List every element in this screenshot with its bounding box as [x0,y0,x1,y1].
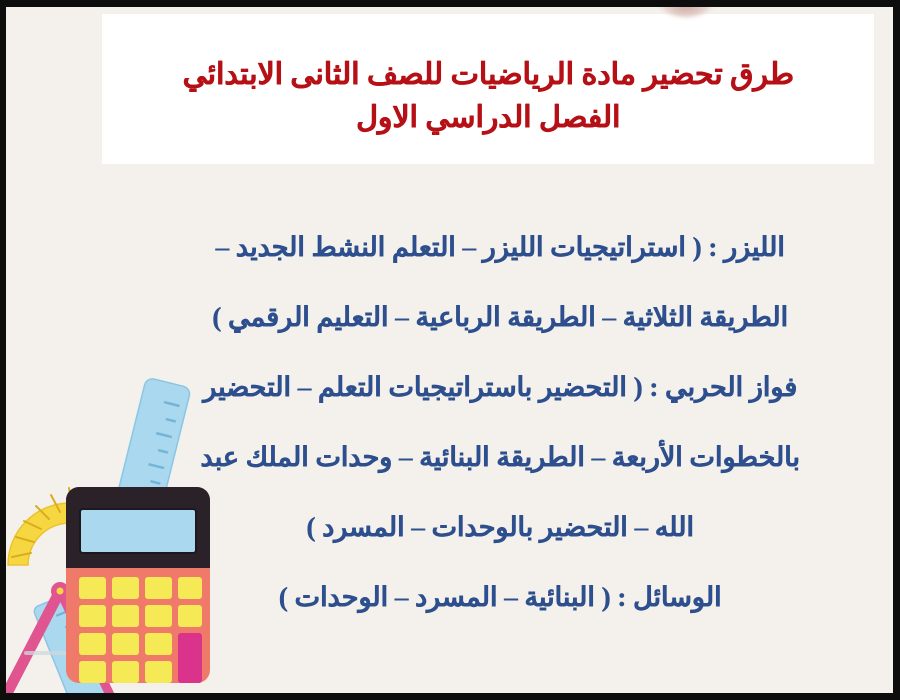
body-line-3: فواز الحربي : ( التحضير باستراتيجيات الت… [126,352,874,422]
compass-icon [4,582,112,699]
body-text-block: الليزر : ( استراتيجيات الليزر – التعلم ا… [126,212,874,632]
body-line-2: الطريقة الثلاثية – الطريقة الرباعية – ال… [126,282,874,352]
title-panel: طرق تحضير مادة الرياضيات للصف الثانى الا… [102,14,874,164]
slide-canvas: طرق تحضير مادة الرياضيات للصف الثانى الا… [0,0,900,700]
body-line-5: الله – التحضير بالوحدات – المسرد ) [126,492,874,562]
body-line-6: الوسائل : ( البنائية – المسرد – الوحدات … [126,562,874,632]
triangle-ruler-icon [33,594,109,699]
page-title-line-1: طرق تحضير مادة الرياضيات للصف الثانى الا… [182,53,793,97]
body-line-4: بالخطوات الأربعة – الطريقة البنائية – وح… [126,422,874,492]
protractor-icon [8,488,133,565]
body-line-1: الليزر : ( استراتيجيات الليزر – التعلم ا… [126,212,874,282]
page-title-line-2: الفصل الدراسي الاول [356,96,620,140]
